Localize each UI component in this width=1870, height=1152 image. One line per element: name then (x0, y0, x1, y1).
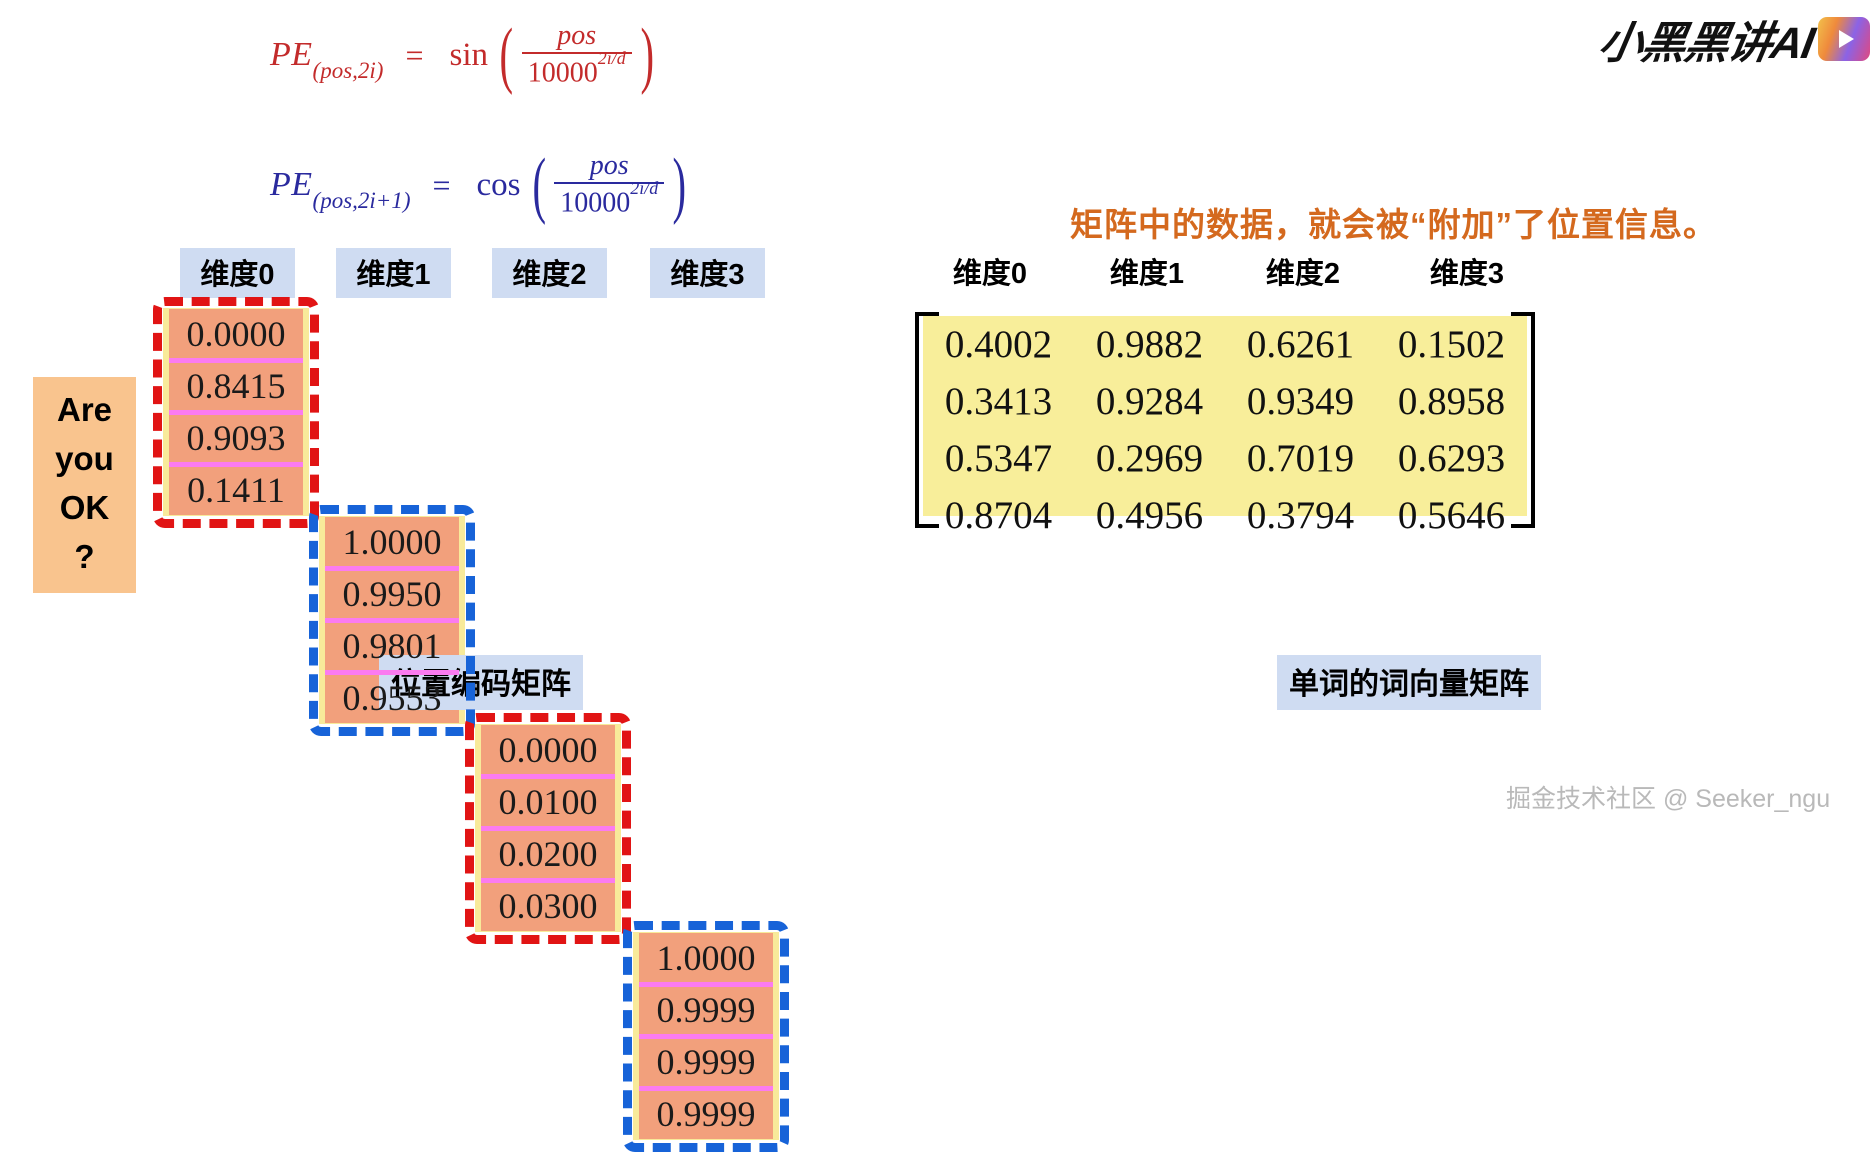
embed-cell: 0.3413 (923, 373, 1074, 430)
right-paren: ) (640, 25, 654, 86)
pe-row-separator (481, 826, 615, 831)
channel-logo: 小黑黑讲AI (1600, 8, 1870, 70)
embed-cell: 0.9882 (1074, 316, 1225, 373)
formula-lhs: PE(pos,2i+1) (270, 166, 410, 205)
formula-lhs: PE(pos,2i) (270, 36, 383, 75)
pe-row-separator (639, 1034, 773, 1039)
embed-header-dim2: 维度2 (1248, 250, 1358, 292)
token-item: you (33, 434, 136, 483)
pe-header-dim2: 维度2 (492, 248, 607, 298)
embed-cell: 0.4956 (1074, 487, 1225, 544)
formula-pe-even: PE(pos,2i) = sin ( pos 100002i/d ) (270, 22, 659, 89)
pe-row-separator (325, 670, 459, 675)
token-item: ? (33, 532, 136, 581)
embed-cell: 0.3794 (1225, 487, 1376, 544)
embed-cell: 0.9349 (1225, 373, 1376, 430)
pe-column-bg: 0.0000 0.8415 0.9093 0.1411 (163, 308, 309, 516)
pe-row-separator (325, 566, 459, 571)
embed-cell: 0.7019 (1225, 430, 1376, 487)
left-paren: ( (532, 155, 546, 216)
fraction-denominator: 10000 (528, 58, 598, 89)
pe-column-bg: 1.0000 0.9999 0.9999 0.9999 (633, 932, 779, 1140)
pe-cell: 0.0300 (475, 880, 621, 932)
embed-cell: 0.8704 (923, 487, 1074, 544)
formula-fraction: pos 100002i/d (554, 151, 664, 218)
pe-row-separator (169, 462, 303, 467)
watermark: 掘金技术社区 @ Seeker_ngu (1506, 779, 1830, 815)
embed-header-dim0: 维度0 (935, 250, 1045, 292)
pe-row-separator (639, 982, 773, 987)
play-badge-icon (1818, 17, 1870, 61)
embed-cell: 0.9284 (1074, 373, 1225, 430)
pe-cell: 0.0200 (475, 828, 621, 880)
pe-cell: 0.9093 (163, 412, 309, 464)
embed-cell: 0.5646 (1376, 487, 1527, 544)
embed-cell: 0.1502 (1376, 316, 1527, 373)
embed-cell: 0.2969 (1074, 430, 1225, 487)
pe-column-bg: 1.0000 0.9950 0.9801 0.9553 (319, 516, 465, 724)
embedding-matrix-body: 0.4002 0.9882 0.6261 0.1502 0.3413 0.928… (923, 316, 1527, 516)
pe-column-dim0: 0.0000 0.8415 0.9093 0.1411 (163, 308, 309, 516)
pe-header-dim1: 维度1 (336, 248, 451, 298)
embed-cell: 0.6261 (1225, 316, 1376, 373)
pe-row-separator (325, 618, 459, 623)
pe-cell: 0.0000 (163, 308, 309, 360)
pe-cell: 0.0000 (475, 724, 621, 776)
fraction-numerator: pos (549, 21, 604, 50)
formula-pe-odd: PE(pos,2i+1) = cos ( pos 100002i/d ) (270, 152, 692, 219)
pe-cell: 0.9553 (319, 672, 465, 724)
embed-cell: 0.6293 (1376, 430, 1527, 487)
left-paren: ( (500, 25, 514, 86)
pe-cell: 0.9999 (633, 1088, 779, 1140)
formula-lhs-sub: (pos,2i) (313, 58, 384, 83)
formula-lhs-main: PE (270, 36, 313, 73)
pe-cell: 0.9950 (319, 568, 465, 620)
fraction-denominator: 10000 (560, 188, 630, 219)
pe-column-bg: 0.0000 0.0100 0.0200 0.0300 (475, 724, 621, 932)
pe-row-separator (639, 1086, 773, 1091)
fraction-numerator: pos (582, 151, 637, 180)
token-column: Are you OK ? (33, 377, 136, 593)
pe-row-separator (169, 358, 303, 363)
embed-header-dim1: 维度1 (1092, 250, 1202, 292)
token-item: Are (33, 385, 136, 434)
right-paren: ) (673, 155, 687, 216)
pe-row-separator (481, 878, 615, 883)
formula-function: cos (477, 167, 521, 204)
pe-row-separator (169, 410, 303, 415)
formula-lhs-sub: (pos,2i+1) (313, 188, 411, 213)
embed-cell: 0.5347 (923, 430, 1074, 487)
pe-column-dim2: 0.0000 0.0100 0.0200 0.0300 (475, 724, 621, 932)
embedding-matrix-caption: 单词的词向量矩阵 (1277, 655, 1541, 710)
pe-cell: 0.9999 (633, 984, 779, 1036)
fraction-denominator-group: 100002i/d (554, 186, 664, 218)
pe-cell: 0.1411 (163, 464, 309, 516)
formula-equals: = (405, 37, 423, 74)
pe-column-dim3: 1.0000 0.9999 0.9999 0.9999 (633, 932, 779, 1140)
token-item: OK (33, 483, 136, 532)
fraction-denominator-group: 100002i/d (522, 56, 632, 88)
pe-header-dim0: 维度0 (180, 248, 295, 298)
fraction-exponent: 2i/d (598, 48, 626, 68)
pe-cell: 0.9801 (319, 620, 465, 672)
pe-cell: 0.8415 (163, 360, 309, 412)
channel-logo-text: 小黑黑讲AI (1600, 8, 1820, 70)
pe-row-separator (481, 774, 615, 779)
pe-header-dim3: 维度3 (650, 248, 765, 298)
embed-cell: 0.8958 (1376, 373, 1527, 430)
formula-fraction: pos 100002i/d (522, 21, 632, 88)
pe-cell: 0.9999 (633, 1036, 779, 1088)
formula-lhs-main: PE (270, 166, 313, 203)
pe-cell: 1.0000 (319, 516, 465, 568)
embed-header-dim3: 维度3 (1412, 250, 1522, 292)
formula-equals: = (432, 167, 450, 204)
embed-cell: 0.4002 (923, 316, 1074, 373)
formula-function: sin (450, 37, 489, 74)
fraction-exponent: 2i/d (630, 178, 658, 198)
pe-cell: 0.0100 (475, 776, 621, 828)
embedding-matrix: 0.4002 0.9882 0.6261 0.1502 0.3413 0.928… (915, 312, 1535, 520)
pe-column-dim1: 1.0000 0.9950 0.9801 0.9553 (319, 516, 465, 724)
orange-heading: 矩阵中的数据，就会被“附加”了位置信息。 (1070, 198, 1717, 246)
pe-cell: 1.0000 (633, 932, 779, 984)
